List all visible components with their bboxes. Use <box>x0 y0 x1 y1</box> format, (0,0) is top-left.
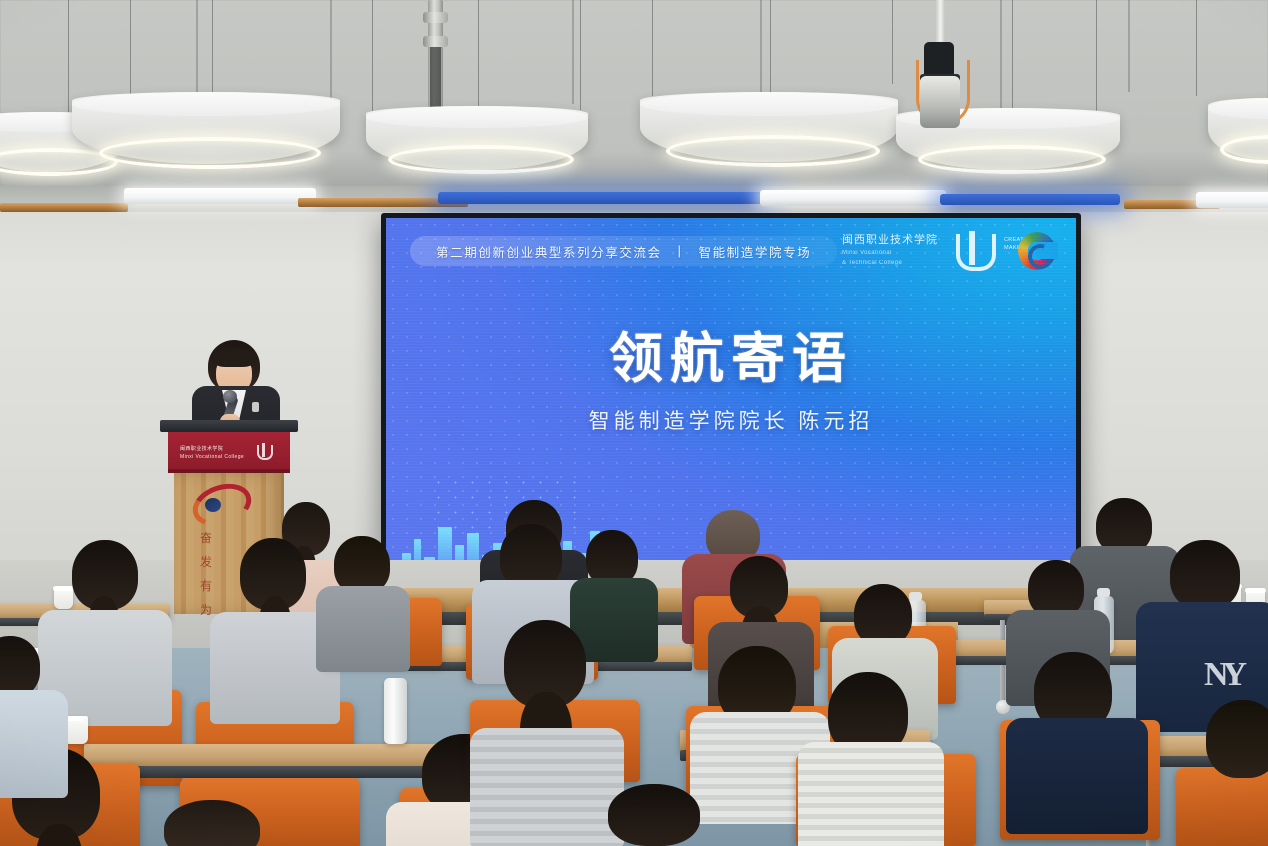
light-cable <box>68 0 69 118</box>
light-cable <box>212 0 213 94</box>
slide-title: 领航寄语 <box>386 314 1076 393</box>
podium-u-logo-icon <box>255 443 272 462</box>
college-logo: 闽西职业技术学院 Minxi Vocational & Technical Co… <box>842 229 938 273</box>
paper-cup <box>54 586 73 609</box>
college-name-en-2: & Technical College <box>842 260 938 268</box>
blue-accent-light <box>940 194 1120 205</box>
header-main-text: 第二期创新创业典型系列分享交流会 <box>436 242 662 261</box>
podium-char-1: 奋 <box>200 529 212 546</box>
pendant-light <box>72 92 340 164</box>
light-cable <box>652 0 653 96</box>
u-logo-icon <box>950 228 994 274</box>
college-name-en-1: Minxi Vocational <box>842 250 938 258</box>
chair <box>1176 768 1268 846</box>
podium-char-2: 发 <box>200 553 212 570</box>
light-cable <box>130 0 131 96</box>
light-cable <box>1012 0 1013 118</box>
screen-header-pill: 第二期创新创业典型系列分享交流会 | 智能制造学院专场 <box>410 236 837 266</box>
slide-subtitle: 智能制造学院院长 陈元招 <box>386 405 1076 435</box>
college-name-cn: 闽西职业技术学院 <box>842 234 938 246</box>
header-sub-text: 智能制造学院专场 <box>698 242 811 261</box>
light-cable <box>770 0 771 100</box>
wood-trim <box>0 203 128 212</box>
light-cable <box>892 0 893 84</box>
light-cable <box>478 0 479 112</box>
colorful-swirl-logo-icon: CREATIVE MAKER <box>1006 228 1062 274</box>
pendant-light <box>640 92 898 162</box>
podium-char-3: 有 <box>200 577 212 594</box>
pendant-light <box>366 106 588 170</box>
podium-emblem-icon <box>192 481 244 521</box>
light-cable <box>1196 0 1197 96</box>
lecture-hall-photo: 第二期创新创业典型系列分享交流会 | 智能制造学院专场 闽西职业技术学院 Min… <box>0 0 1268 846</box>
led-panel-light <box>1196 192 1268 208</box>
screen-logo-group: 闽西职业技术学院 Minxi Vocational & Technical Co… <box>842 228 1062 274</box>
ceiling-projector <box>918 28 962 140</box>
led-panel-light <box>760 190 946 206</box>
light-cable <box>580 0 581 110</box>
podium-brand-text: 闽西职业技术学院 Minxi Vocational College <box>180 446 244 461</box>
microphone-icon <box>223 390 237 403</box>
led-panel-light <box>124 188 316 204</box>
thermos <box>384 678 407 744</box>
header-separator: | <box>678 244 683 258</box>
podium-red-band: 闽西职业技术学院 Minxi Vocational College <box>168 432 290 469</box>
podium-char-4: 为 <box>200 601 212 618</box>
blue-accent-light <box>438 192 774 204</box>
light-cable <box>372 0 373 124</box>
